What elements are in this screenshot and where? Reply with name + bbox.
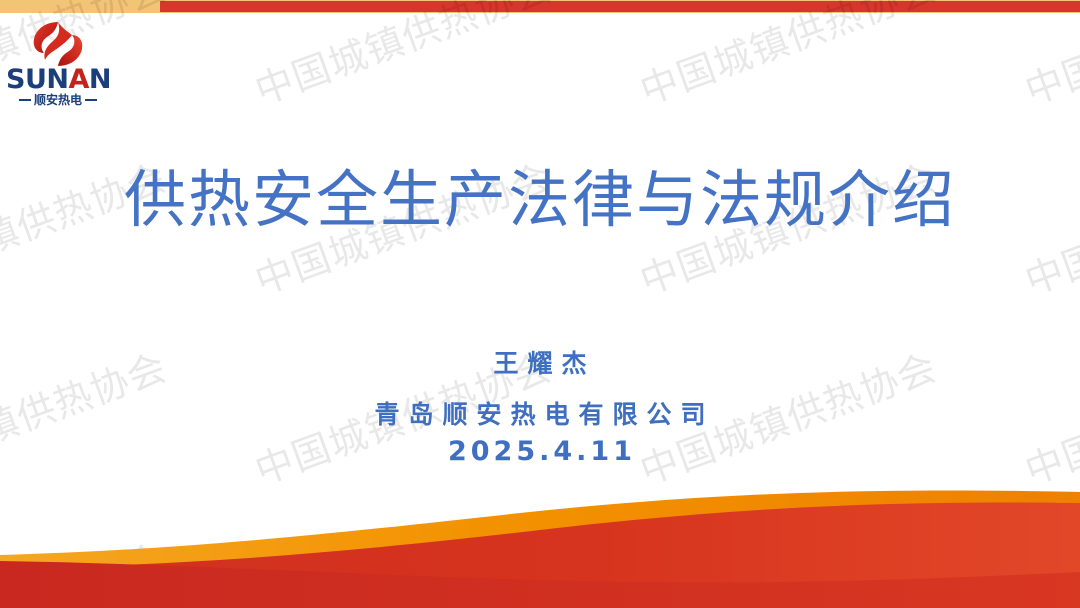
slide-title: 供热安全生产法律与法规介绍 (0, 166, 1080, 234)
top-bar-red (160, 1, 1080, 12)
logo-wordmark-part1: SUN (6, 64, 68, 95)
logo-wordmark: SUNAN (6, 66, 110, 93)
flame-swirl-icon (28, 20, 90, 68)
company-name: 青岛顺安热电有限公司 (0, 399, 1080, 430)
logo-dash-left (19, 99, 31, 101)
author-name: 王耀杰 (0, 348, 1080, 379)
logo-subtext: 顺安热电 (34, 94, 82, 106)
bottom-wave-decoration (0, 478, 1080, 608)
byline-block: 王耀杰 青岛顺安热电有限公司 2025.4.11 (0, 348, 1080, 468)
logo-dash-right (85, 99, 97, 101)
presentation-date: 2025.4.11 (0, 435, 1080, 469)
watermark-text: 中国城镇供热协会 (246, 0, 558, 115)
company-logo: SUNAN 顺安热电 (6, 20, 110, 112)
watermark-text: 中国城镇供热协会 (1016, 0, 1080, 115)
watermark-text: 中国城镇供热协会 (631, 0, 943, 115)
slide-canvas: 中国城镇供热协会中国城镇供热协会中国城镇供热协会中国城镇供热协会中国城镇供热协会… (0, 0, 1080, 608)
logo-subtext-row: 顺安热电 (6, 94, 110, 106)
logo-wordmark-part2: N (89, 64, 111, 95)
logo-wordmark-accent: A (68, 64, 88, 95)
